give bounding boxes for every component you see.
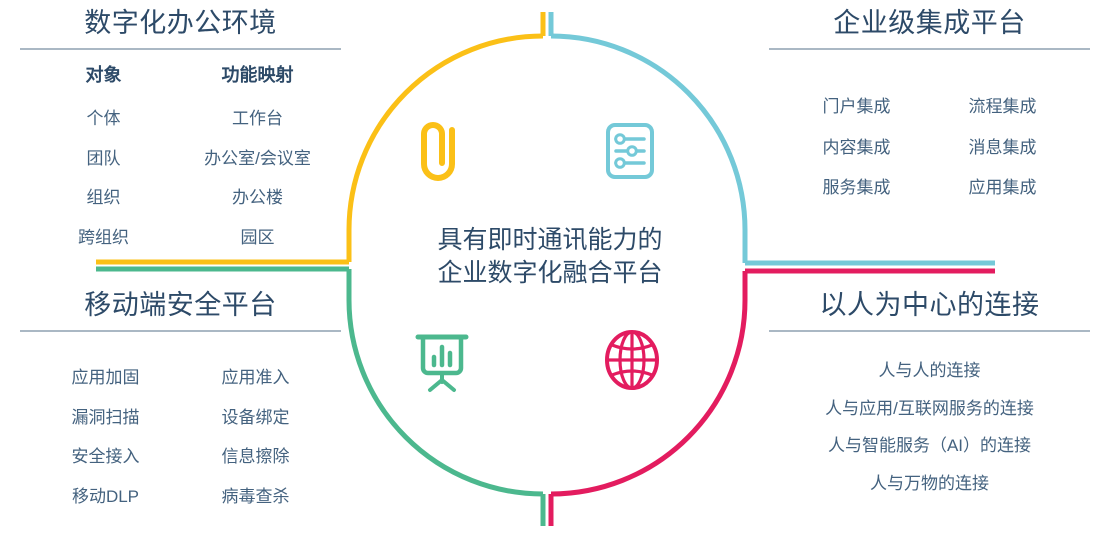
center-headline: 具有即时通讯能力的 企业数字化融合平台 <box>390 224 710 290</box>
list-item: 门户集成 <box>798 98 916 117</box>
list-item: 人与人的连接 <box>879 362 981 381</box>
panel-mobile-security: 移动端安全平台 应用加固 漏洞扫描 安全接入 移动DLP 应用准入 设备绑定 信… <box>8 290 353 507</box>
list-item: 设备绑定 <box>197 409 315 428</box>
panel-title-human-centered-connection: 以人为中心的连接 <box>757 290 1102 321</box>
column-objects: 对象 个体 团队 组织 跨组织 <box>45 66 163 248</box>
column-security-right: 应用准入 设备绑定 信息擦除 病毒查杀 <box>197 369 315 507</box>
list-item: 办公室/会议室 <box>199 150 317 169</box>
panel-columns: 应用加固 漏洞扫描 安全接入 移动DLP 应用准入 设备绑定 信息擦除 病毒查杀 <box>8 369 353 507</box>
infographic-canvas: 具有即时通讯能力的 企业数字化融合平台 <box>0 0 1110 538</box>
list-item: 组织 <box>45 189 163 208</box>
list-item: 病毒查杀 <box>197 488 315 507</box>
column-header: 功能映射 <box>199 66 317 86</box>
panel-columns: 对象 个体 团队 组织 跨组织 功能映射 工作台 办公室/会议室 办公楼 园区 <box>8 66 353 248</box>
list-item: 园区 <box>199 229 317 248</box>
presentation-chart-icon <box>410 330 474 399</box>
list-item: 安全接入 <box>47 448 165 467</box>
list-item: 个体 <box>45 110 163 129</box>
connection-list: 人与人的连接 人与应用/互联网服务的连接 人与智能服务（AI）的连接 人与万物的… <box>757 362 1102 494</box>
list-item: 消息集成 <box>944 139 1062 158</box>
panel-divider <box>769 48 1090 50</box>
panel-divider <box>20 330 341 332</box>
center-headline-line1: 具有即时通讯能力的 <box>390 224 710 257</box>
panel-enterprise-integration: 企业级集成平台 门户集成 内容集成 服务集成 流程集成 消息集成 应用集成 <box>757 8 1102 198</box>
list-item: 信息擦除 <box>197 448 315 467</box>
list-item: 应用准入 <box>197 369 315 388</box>
column-security-left: 应用加固 漏洞扫描 安全接入 移动DLP <box>47 369 165 507</box>
list-item: 内容集成 <box>798 139 916 158</box>
list-item: 移动DLP <box>47 488 165 507</box>
panel-divider <box>769 330 1090 332</box>
panel-divider <box>20 48 341 50</box>
list-item: 团队 <box>45 150 163 169</box>
list-item: 流程集成 <box>944 98 1062 117</box>
list-item: 跨组织 <box>45 229 163 248</box>
paperclip-icon <box>416 120 472 187</box>
panel-title-enterprise-integration: 企业级集成平台 <box>757 8 1102 39</box>
list-item: 漏洞扫描 <box>47 409 165 428</box>
sliders-panel-icon <box>601 120 659 187</box>
list-item: 应用集成 <box>944 179 1062 198</box>
column-integration-right: 流程集成 消息集成 应用集成 <box>944 98 1062 198</box>
list-item: 人与万物的连接 <box>870 475 989 494</box>
globe-icon <box>602 327 662 398</box>
panel-columns: 门户集成 内容集成 服务集成 流程集成 消息集成 应用集成 <box>757 98 1102 198</box>
panel-human-centered-connection: 以人为中心的连接 人与人的连接 人与应用/互联网服务的连接 人与智能服务（AI）… <box>757 290 1102 494</box>
panel-title-digital-office: 数字化办公环境 <box>8 8 353 39</box>
center-headline-line2: 企业数字化融合平台 <box>390 257 710 290</box>
column-function-mapping: 功能映射 工作台 办公室/会议室 办公楼 园区 <box>199 66 317 248</box>
list-item: 人与应用/互联网服务的连接 <box>825 400 1034 419</box>
list-item: 应用加固 <box>47 369 165 388</box>
panel-title-mobile-security: 移动端安全平台 <box>8 290 353 321</box>
list-item: 工作台 <box>199 110 317 129</box>
list-item: 人与智能服务（AI）的连接 <box>828 437 1031 456</box>
column-integration-left: 门户集成 内容集成 服务集成 <box>798 98 916 198</box>
column-header: 对象 <box>45 66 163 86</box>
list-item: 服务集成 <box>798 179 916 198</box>
panel-digital-office: 数字化办公环境 对象 个体 团队 组织 跨组织 功能映射 工作台 办公室/会议室… <box>8 8 353 248</box>
list-item: 办公楼 <box>199 189 317 208</box>
